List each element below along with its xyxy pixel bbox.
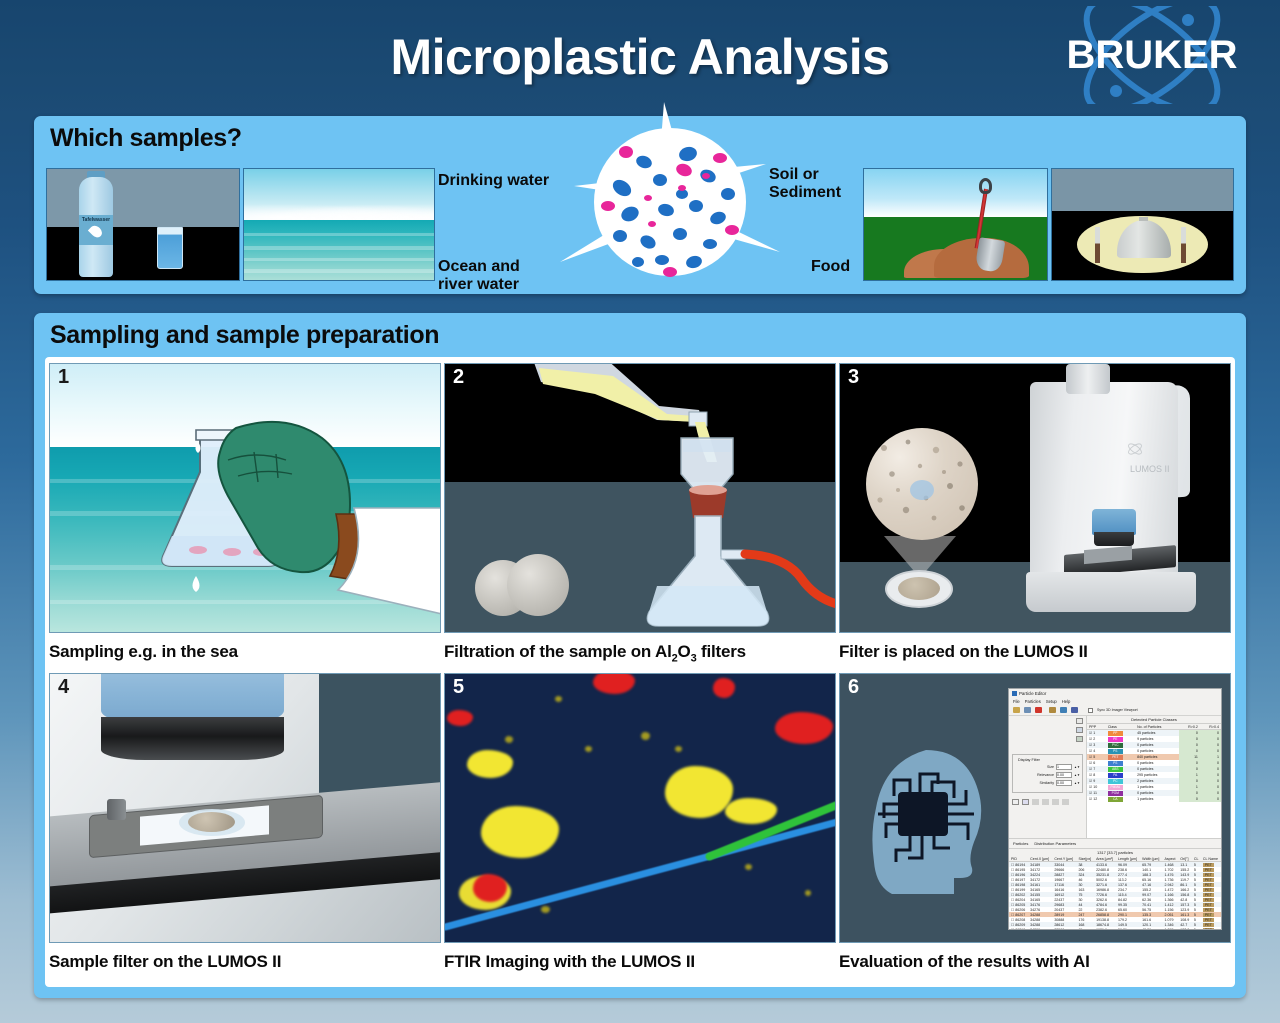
particle-cell: 43.36: [1140, 927, 1162, 930]
step-2-number: 2: [453, 366, 464, 389]
class-name-badge: PET: [1203, 878, 1214, 882]
class-color-swatch: PS: [1108, 749, 1123, 754]
class-name-badge: PET: [1203, 928, 1214, 931]
similarity-input[interactable]: 0.00: [1056, 780, 1072, 786]
relevance-label: Relevance: [1037, 773, 1054, 777]
which-samples-title: Which samples?: [50, 124, 242, 153]
classes-body: ☑ 1PP45 particles00☑ 2PE9 particles00☑ 3…: [1087, 730, 1221, 803]
menu-item-particles[interactable]: Particles: [1025, 699, 1041, 704]
class-name-badge: PET: [1203, 923, 1214, 927]
step-6-caption: Evaluation of the results with AI: [839, 952, 1231, 972]
wave-line: [244, 269, 434, 273]
lower-tabs[interactable]: Particles Distribution Parameters: [1009, 838, 1221, 849]
menu-item-help[interactable]: Help: [1062, 699, 1071, 704]
detected-classes-pane: Detected Particle Classes PPP Class No. …: [1087, 716, 1221, 838]
sample-filter-disc: [898, 577, 940, 600]
filter-field-size[interactable]: Size 1 ▲▼: [1016, 764, 1080, 770]
wave-line: [244, 233, 434, 236]
page-header: Microplastic Analysis BRUKER: [0, 0, 1280, 110]
collapse-icon[interactable]: [1076, 718, 1083, 724]
particles-table[interactable]: PIDCent.X [µm]Cent.Y [µm]Size[px]Area [µ…: [1009, 856, 1221, 930]
relevance-input[interactable]: 0.00: [1056, 772, 1072, 778]
step-3: LUMOS II 3 Filter is placed on the LUMOS…: [839, 363, 1231, 662]
particle-cell: 32588: [1052, 927, 1076, 930]
toolbar[interactable]: Sync 3D Imager Viewport: [1009, 705, 1221, 716]
step-6: Particle Editor File Particles Setup Hel…: [839, 673, 1231, 972]
tab-distribution-parameters[interactable]: Distribution Parameters: [1034, 841, 1076, 846]
objective-barrel: [1094, 532, 1134, 546]
similarity-label: Similarity: [1039, 781, 1054, 785]
class-name-badge: PET: [1203, 888, 1214, 892]
class-color-swatch: PS: [1108, 761, 1123, 766]
similarity-stepper[interactable]: ▲▼: [1074, 781, 1080, 785]
class-color-swatch: PMMA: [1108, 785, 1123, 790]
objective-lens-closeup: [101, 673, 284, 722]
folder-icon[interactable]: [1049, 707, 1056, 713]
relevance-stepper[interactable]: ▲▼: [1074, 773, 1080, 777]
particle-cell: 127.8: [1178, 927, 1192, 930]
ocean-river-water-image: [243, 168, 435, 281]
menu-item-setup[interactable]: Setup: [1046, 699, 1057, 704]
filter-field-similarity[interactable]: Similarity 0.00 ▲▼: [1016, 780, 1080, 786]
class-row[interactable]: ☑ 12CA1 particles00: [1087, 796, 1221, 802]
clear-icon[interactable]: [1062, 799, 1069, 805]
drinking-water-image: Tafelwasser: [46, 168, 240, 281]
step-1-number: 1: [58, 366, 69, 389]
step-1: 1 Sampling e.g. in the sea: [49, 363, 441, 662]
label-drinking-water: Drinking water: [438, 172, 549, 190]
lumos-model-marking: LUMOS II: [1130, 464, 1170, 474]
particles-body: ☐ 861943418933044384133.696.0965.791.468…: [1009, 862, 1221, 931]
bruker-logo: BRUKER: [1055, 6, 1250, 104]
class-color-swatch: PC: [1108, 779, 1123, 784]
class-name-badge: PET: [1203, 898, 1214, 902]
step-2-caption-pre: Filtration of the sample on Al: [444, 642, 672, 661]
class-name-badge: PET: [1203, 863, 1214, 867]
class-color-swatch: ABS: [1108, 767, 1123, 772]
step-4-caption: Sample filter on the LUMOS II: [49, 952, 441, 972]
particle-cell: 56.21: [1116, 927, 1140, 930]
class-color-swatch: POM: [1108, 791, 1123, 796]
particle-class-name-cell: PET: [1201, 927, 1221, 930]
class-color-swatch: PET: [1108, 755, 1123, 760]
split-icon[interactable]: [1042, 799, 1049, 805]
sampling-preparation-title: Sampling and sample preparation: [50, 321, 439, 350]
step-4-number: 4: [58, 676, 69, 699]
tab-particles[interactable]: Particles: [1013, 841, 1028, 846]
step-3-image: LUMOS II 3: [839, 363, 1231, 633]
bottom-tool-strip[interactable]: [1012, 799, 1083, 805]
window-title: Particle Editor: [1019, 691, 1046, 696]
stage-knob: [107, 799, 127, 820]
detected-classes-table[interactable]: PPP Class No. of Particles R>0.2 R>0.4 ☑…: [1087, 724, 1221, 802]
microplastic-particle-highlight: [910, 480, 934, 500]
food-image: [1051, 168, 1234, 281]
fork-icon: [1095, 227, 1100, 263]
soil-sky: [864, 169, 1047, 217]
particle-cell: 1.295: [1162, 927, 1178, 930]
class-r02-cell: 0: [1179, 796, 1200, 802]
cloche-knob: [1139, 217, 1148, 221]
alumina-filter-disc: [507, 554, 569, 616]
size-stepper[interactable]: ▲▼: [1074, 765, 1080, 769]
class-name-badge: PET: [1203, 913, 1214, 917]
class-color-swatch: PA: [1108, 773, 1123, 778]
select-all-icon[interactable]: [1012, 799, 1019, 805]
step-4-image: 4: [49, 673, 441, 943]
sync-viewport-label: Sync 3D Imager Viewport: [1097, 708, 1138, 712]
menu-bar[interactable]: File Particles Setup Help: [1009, 698, 1221, 705]
particle-cell: 5: [1192, 927, 1201, 930]
particle-cell: 34206: [1028, 927, 1052, 930]
detected-classes-header: Detected Particle Classes: [1087, 716, 1221, 724]
class-color-swatch: CA: [1108, 797, 1123, 802]
particle-editor-window[interactable]: Particle Editor File Particles Setup Hel…: [1008, 688, 1222, 930]
lumos-top-turret: [1066, 364, 1110, 394]
objective-barrel-closeup: [101, 717, 284, 760]
steps-grid: 1 Sampling e.g. in the sea: [45, 357, 1235, 987]
step-1-caption: Sampling e.g. in the sea: [49, 642, 441, 662]
delete-icon[interactable]: [1052, 799, 1059, 805]
step-6-number: 6: [848, 676, 859, 699]
step-2: 2 Filtration of the sample on Al2O3 filt…: [444, 363, 836, 664]
app-icon: [1012, 691, 1017, 696]
step-6-image: Particle Editor File Particles Setup Hel…: [839, 673, 1231, 943]
class-count-cell: 1 particles: [1135, 796, 1179, 802]
label-soil-sediment: Soil orSediment: [769, 166, 841, 202]
particle-cell: 1631.6: [1094, 927, 1116, 930]
run-icon[interactable]: [1060, 707, 1067, 713]
class-color-swatch: PVC: [1108, 743, 1123, 748]
size-label: Size: [1047, 765, 1054, 769]
shovel-handle: [979, 178, 992, 194]
class-name-badge: PET: [1203, 873, 1214, 877]
class-name-badge: PET: [1203, 918, 1214, 922]
class-name-badge: PET: [1203, 893, 1214, 897]
step-1-image: 1: [49, 363, 441, 633]
sync-viewport-checkbox[interactable]: [1088, 708, 1093, 713]
soil-sediment-image: [863, 168, 1048, 281]
class-color-swatch: PE: [1108, 737, 1123, 742]
wave-line: [244, 246, 434, 250]
bruker-wordmark: BRUKER: [1066, 33, 1237, 77]
step-2-caption-post: filters: [696, 642, 745, 661]
merge-icon[interactable]: [1032, 799, 1039, 805]
ai-chip-icon: [876, 770, 980, 866]
step-5-caption: FTIR Imaging with the LUMOS II: [444, 952, 836, 972]
window-titlebar: Particle Editor: [1009, 689, 1221, 698]
class-swatch-cell: CA: [1106, 796, 1135, 802]
which-samples-section: Which samples? Tafelwasser: [34, 116, 1246, 294]
sampling-illustration: [50, 364, 441, 633]
particle-row[interactable]: ☐ 862103420632588151631.656.2143.361.295…: [1009, 927, 1221, 930]
microplastic-particles-burst: [560, 102, 780, 302]
bottle-brand-text: Tafelwasser: [79, 217, 113, 223]
class-name-badge: PET: [1203, 908, 1214, 912]
editor-body: Display Filter Size 1 ▲▼ Relevance 0.00 …: [1009, 716, 1221, 838]
step-5-image: 5: [444, 673, 836, 943]
wave-line: [244, 258, 434, 261]
grid-view-icon[interactable]: [1076, 736, 1083, 742]
open-icon[interactable]: [1013, 707, 1020, 713]
class-name-badge: PET: [1203, 868, 1214, 872]
export-icon[interactable]: [1035, 707, 1042, 713]
display-filter-pane: Display Filter Size 1 ▲▼ Relevance 0.00 …: [1009, 716, 1087, 838]
size-input[interactable]: 1: [1056, 764, 1072, 770]
particle-cell: ☐ 86210: [1009, 927, 1028, 930]
knife-icon: [1181, 227, 1186, 263]
bruker-mark-icon: [1126, 442, 1144, 456]
filter-field-relevance[interactable]: Relevance 0.00 ▲▼: [1016, 772, 1080, 778]
invert-selection-icon[interactable]: [1022, 799, 1029, 805]
display-filter-group: Display Filter Size 1 ▲▼ Relevance 0.00 …: [1012, 754, 1083, 793]
step-2-image: 2: [444, 363, 836, 633]
flag-icon[interactable]: [1071, 707, 1078, 713]
step-3-caption: Filter is placed on the LUMOS II: [839, 642, 1231, 662]
menu-item-file[interactable]: File: [1013, 699, 1020, 704]
step-2-caption: Filtration of the sample on Al2O3 filter…: [444, 642, 836, 664]
class-index-cell: ☑ 12: [1087, 796, 1106, 802]
step-2-caption-mid: O: [678, 642, 691, 661]
class-name-badge: PET: [1203, 903, 1214, 907]
label-food: Food: [811, 258, 850, 276]
class-name-badge: PET: [1203, 883, 1214, 887]
save-icon[interactable]: [1024, 707, 1031, 713]
step-5-number: 5: [453, 676, 464, 699]
class-r04-cell: 0: [1200, 796, 1221, 802]
bottle-scene-backdrop: [47, 169, 239, 227]
class-color-swatch: PP: [1108, 731, 1123, 736]
bottle-scene-foreground: [47, 227, 239, 280]
food-backdrop: [1052, 169, 1233, 211]
step-3-number: 3: [848, 366, 859, 389]
step-5: 5 FTIR Imaging with the LUMOS II: [444, 673, 836, 972]
display-filter-label: Display Filter: [1016, 758, 1042, 762]
lumos-base: [1026, 572, 1196, 612]
step-4: 4 Sample filter on the LUMOS II: [49, 673, 441, 972]
side-tool-strip[interactable]: [1076, 718, 1083, 742]
list-view-icon[interactable]: [1076, 727, 1083, 733]
magnified-filter-view: [866, 428, 978, 540]
water-glass: [157, 227, 183, 269]
particle-count-label: 1317 [33.7] particles: [1009, 849, 1221, 856]
sampling-preparation-section: Sampling and sample preparation: [34, 313, 1246, 998]
particle-cell: 15: [1076, 927, 1094, 930]
label-ocean-river-water: Ocean andriver water: [438, 258, 520, 294]
